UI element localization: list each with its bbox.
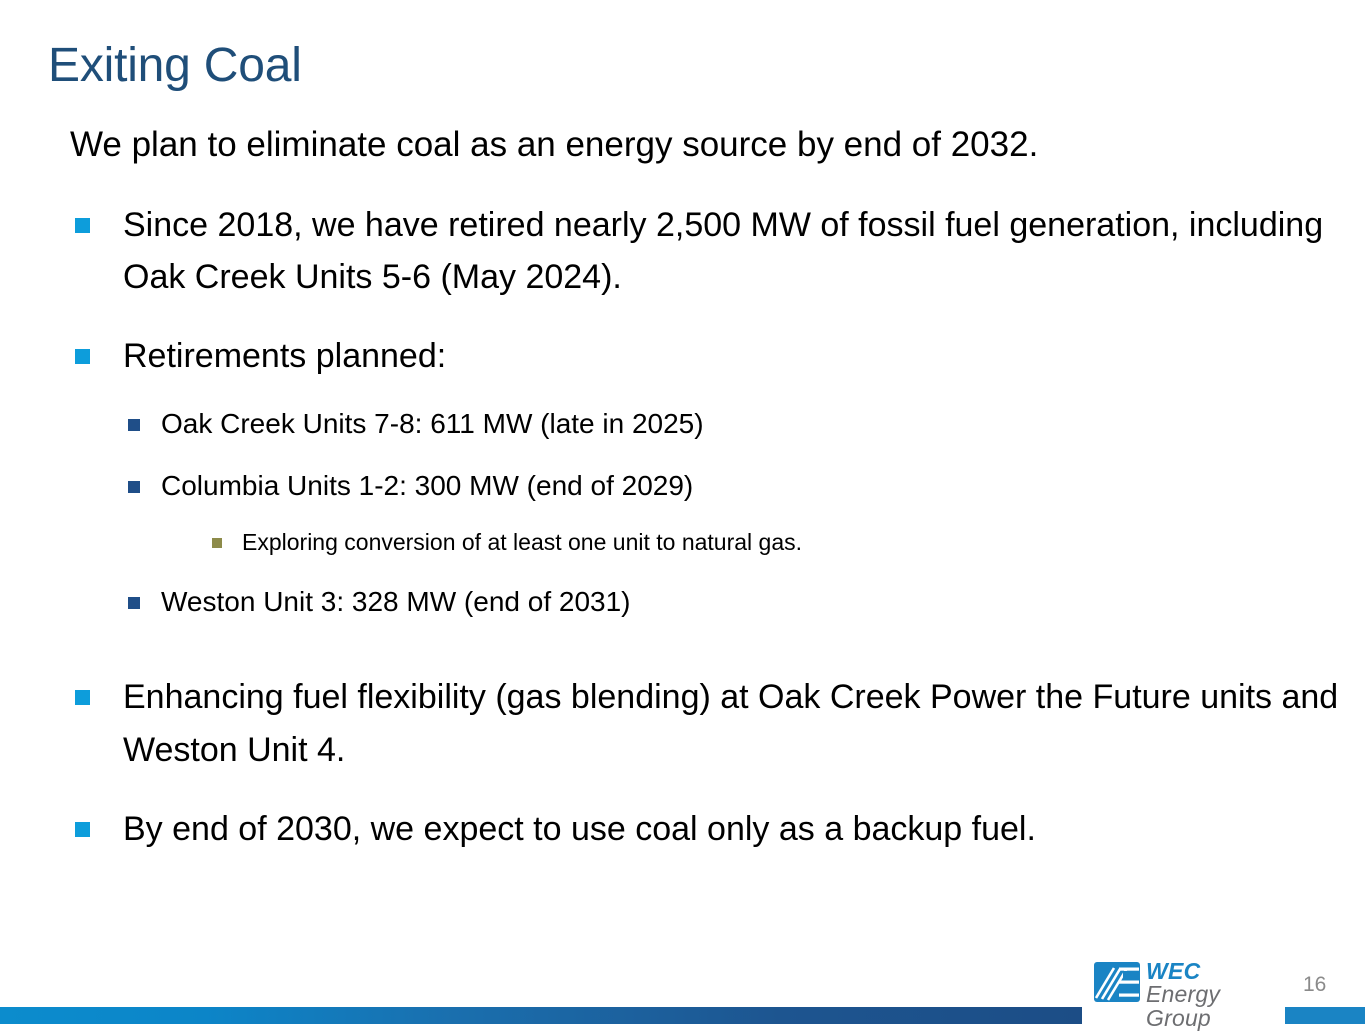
- logo-primary-text: WEC: [1146, 960, 1272, 983]
- bullet-text: Retirements planned:: [123, 330, 1348, 383]
- bullet-text: Exploring conversion of at least one uni…: [242, 525, 1222, 560]
- page-title: Exiting Coal: [48, 41, 302, 92]
- square-bullet-icon: [128, 597, 140, 609]
- bullet-level1-fuel-flexibility: Enhancing fuel flexibility (gas blending…: [75, 671, 1348, 776]
- bullet-text: Columbia Units 1-2: 300 MW (end of 2029): [161, 465, 1261, 507]
- bullet-level3-gas-conversion: Exploring conversion of at least one uni…: [212, 525, 1222, 560]
- bullet-text: Since 2018, we have retired nearly 2,500…: [123, 199, 1348, 304]
- bullet-text: By end of 2030, we expect to use coal on…: [123, 803, 1348, 856]
- bullet-level2-weston-unit-3: Weston Unit 3: 328 MW (end of 2031): [128, 581, 1261, 623]
- logo-wordmark: WEC Energy Group: [1146, 960, 1272, 1030]
- square-bullet-icon: [128, 419, 140, 431]
- square-bullet-icon: [75, 822, 90, 837]
- square-bullet-icon: [75, 349, 90, 364]
- bullet-level2-columbia-units-1-2: Columbia Units 1-2: 300 MW (end of 2029): [128, 465, 1261, 507]
- square-bullet-icon: [75, 218, 90, 233]
- logo-secondary-text: Energy Group: [1146, 983, 1272, 1030]
- wec-logo-mark-icon: [1094, 962, 1140, 1002]
- square-bullet-icon: [212, 538, 222, 548]
- bullet-level1-backup-fuel: By end of 2030, we expect to use coal on…: [75, 803, 1348, 856]
- square-bullet-icon: [128, 481, 140, 493]
- slide: Exiting Coal We plan to eliminate coal a…: [0, 0, 1365, 1024]
- square-bullet-icon: [75, 690, 90, 705]
- intro-paragraph: We plan to eliminate coal as an energy s…: [70, 118, 1110, 173]
- bullet-level1-retired-capacity: Since 2018, we have retired nearly 2,500…: [75, 199, 1348, 304]
- bullet-level1-retirements-planned: Retirements planned:: [75, 330, 1348, 383]
- slide-body: We plan to eliminate coal as an energy s…: [0, 118, 1365, 855]
- bullet-text: Weston Unit 3: 328 MW (end of 2031): [161, 581, 1261, 623]
- bullet-text: Enhancing fuel flexibility (gas blending…: [123, 671, 1348, 776]
- bullet-text: Oak Creek Units 7-8: 611 MW (late in 202…: [161, 403, 1261, 445]
- footer-bar-right-segment: [1285, 1007, 1365, 1024]
- bullet-level2-oak-creek-units-7-8: Oak Creek Units 7-8: 611 MW (late in 202…: [128, 403, 1261, 445]
- page-number: 16: [1303, 973, 1326, 997]
- wec-energy-group-logo: WEC Energy Group: [1094, 960, 1272, 1008]
- footer-bar-gradient: [0, 1007, 1082, 1024]
